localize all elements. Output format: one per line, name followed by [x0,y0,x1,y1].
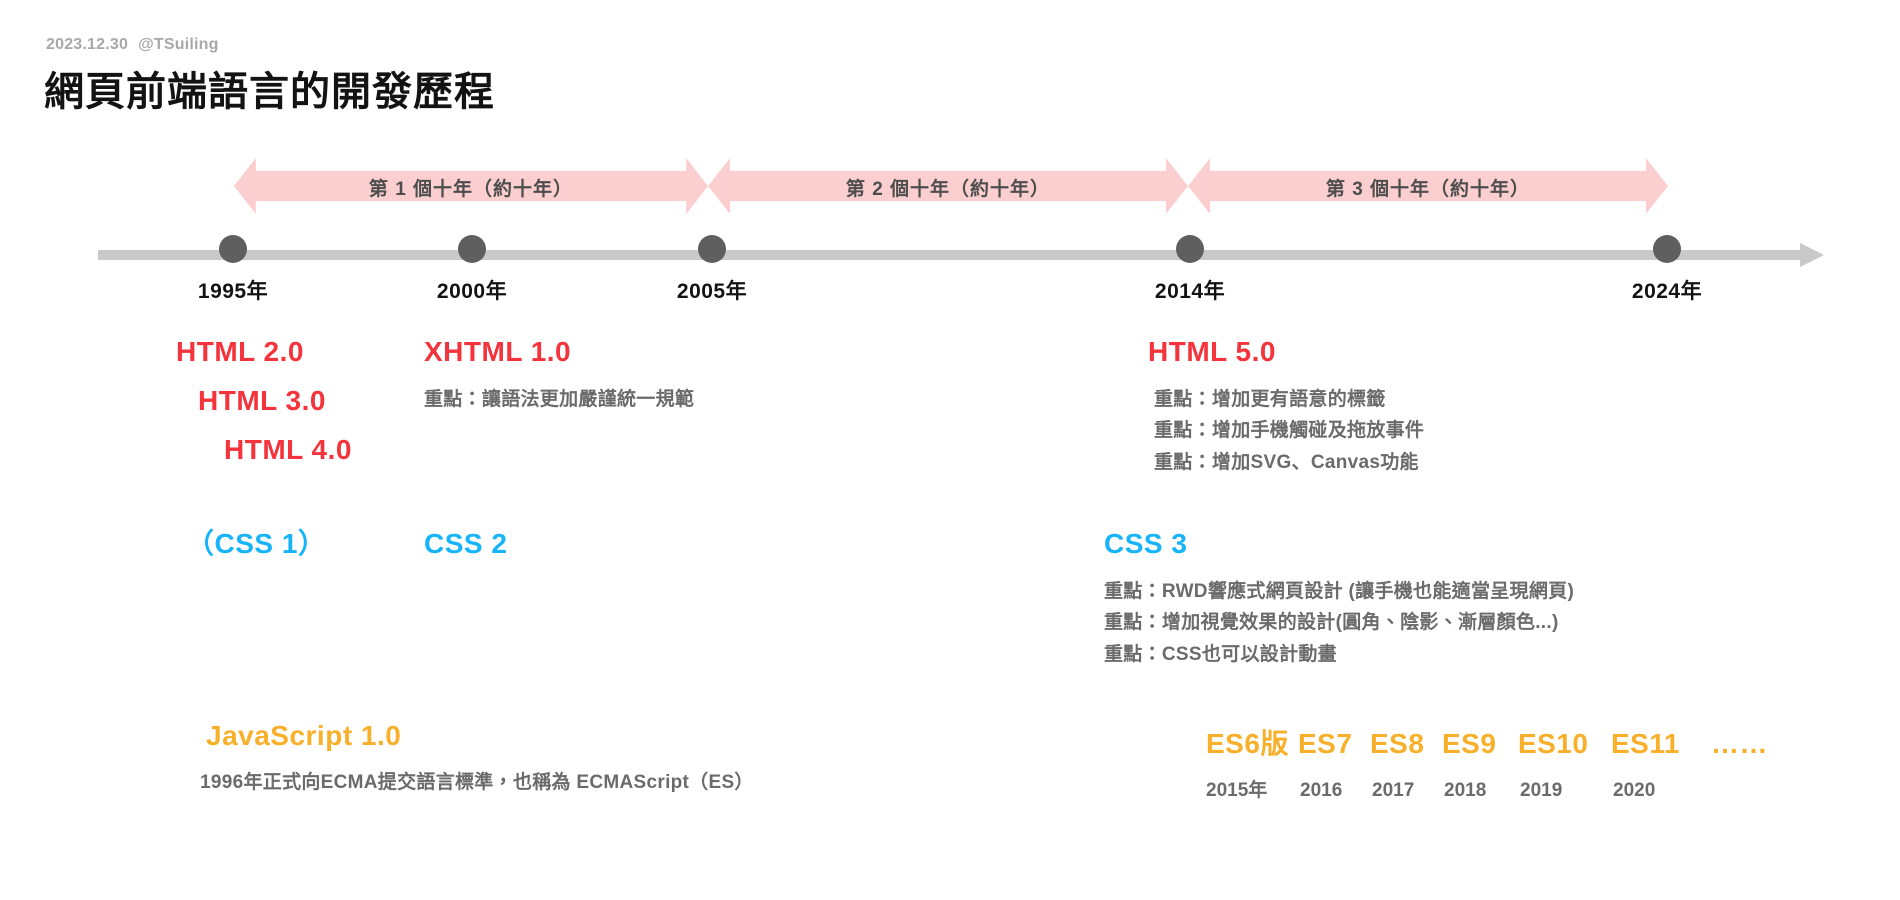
html5-title: HTML 5.0 [1148,338,1424,366]
javascript-title: JavaScript 1.0 [206,722,754,750]
es-year-2020: 2020 [1613,780,1655,802]
css2-title: CSS 2 [424,530,507,558]
html-version-3: HTML 3.0 [198,387,352,415]
decade-label-3: 第 3 個十年（約十年） [1326,174,1530,201]
es-version-11: ES11 [1611,728,1711,760]
timeline-year-label: 2000年 [437,275,507,305]
header-date: 2023.12.30 [46,36,128,53]
es-year-2018: 2018 [1444,780,1520,802]
es-version-list: ES6版 ES7 ES8 ES9 ES10 ES11 …… [1206,722,1768,762]
css3-note-1: 重點：RWD響應式網頁設計 (讓手機也能適當呈現網頁) [1104,576,1574,607]
decade-arrow-band: 第 1 個十年（約十年） 第 2 個十年（約十年） 第 3 個十年（約十年） [0,158,1900,220]
timeline-year-label: 2024年 [1632,275,1702,305]
html5-block: HTML 5.0 重點：增加更有語意的標籤 重點：增加手機觸碰及拖放事件 重點：… [1148,338,1424,478]
es-block: ES6版 ES7 ES8 ES9 ES10 ES11 …… 2015年 2016… [1206,722,1768,802]
timeline-year-label: 2005年 [677,275,747,305]
html-version-4: HTML 4.0 [224,436,352,464]
timeline-axis-line [98,250,1806,260]
es-version-6: ES6版 [1206,722,1298,762]
decade-label-2: 第 2 個十年（約十年） [846,174,1050,201]
timeline-dot-icon [219,235,247,263]
css3-title: CSS 3 [1104,530,1574,558]
decade-arrow-2: 第 2 個十年（約十年） [708,158,1188,214]
css3-note-3: 重點：CSS也可以設計動畫 [1104,639,1574,670]
html5-note-3: 重點：增加SVG、Canvas功能 [1154,447,1424,478]
timeline-dot-icon [458,235,486,263]
html5-notes: 重點：增加更有語意的標籤 重點：增加手機觸碰及拖放事件 重點：增加SVG、Can… [1154,384,1424,478]
timeline-year-label: 2014年 [1155,275,1225,305]
xhtml-block: XHTML 1.0 重點：讓語法更加嚴謹統一規範 [424,338,694,415]
decade-arrow-1: 第 1 個十年（約十年） [234,158,708,214]
es-version-9: ES9 [1442,728,1518,760]
timeline-dot-icon [698,235,726,263]
html5-note-1: 重點：增加更有語意的標籤 [1154,384,1424,415]
css3-note-2: 重點：增加視覺效果的設計(圓角、陰影、漸層顏色...) [1104,607,1574,638]
css1-title: （CSS 1） [186,530,326,558]
css1-block: （CSS 1） [186,530,326,558]
es-version-10: ES10 [1518,728,1611,760]
header-handle: @TSuiling [138,36,219,53]
page-title: 網頁前端語言的開發歷程 [44,59,495,117]
header-meta: 2023.12.30@TSuiling [46,36,219,54]
es-year-2016: 2016 [1300,780,1372,802]
html5-note-2: 重點：增加手機觸碰及拖放事件 [1154,415,1424,446]
es-year-list: 2015年 2016 2017 2018 2019 2020 [1206,775,1768,802]
timeline-arrowhead-icon [1800,243,1824,267]
decade-label-1: 第 1 個十年（約十年） [369,174,573,201]
es-version-more: …… [1711,728,1768,760]
es-year-2019: 2019 [1520,780,1613,802]
timeline-year-label: 1995年 [198,275,268,305]
javascript-block: JavaScript 1.0 1996年正式向ECMA提交語言標準，也稱為 EC… [206,722,754,798]
es-year-2017: 2017 [1372,780,1444,802]
html-version-2: HTML 2.0 [176,338,352,366]
html-early-versions-block: HTML 2.0 HTML 3.0 HTML 4.0 [176,338,352,464]
decade-arrow-3: 第 3 個十年（約十年） [1188,158,1668,214]
es-version-8: ES8 [1370,728,1442,760]
css2-block: CSS 2 [424,530,507,558]
css3-block: CSS 3 重點：RWD響應式網頁設計 (讓手機也能適當呈現網頁) 重點：增加視… [1104,530,1574,670]
es-year-2015: 2015年 [1206,775,1300,802]
xhtml-note-1: 重點：讓語法更加嚴謹統一規範 [424,384,694,415]
css3-notes: 重點：RWD響應式網頁設計 (讓手機也能適當呈現網頁) 重點：增加視覺效果的設計… [1104,576,1574,670]
xhtml-title: XHTML 1.0 [424,338,694,366]
es-version-7: ES7 [1298,728,1370,760]
javascript-note-1: 1996年正式向ECMA提交語言標準，也稱為 ECMAScript（ES） [200,767,754,798]
timeline-dot-icon [1653,235,1681,263]
timeline-dot-icon [1176,235,1204,263]
